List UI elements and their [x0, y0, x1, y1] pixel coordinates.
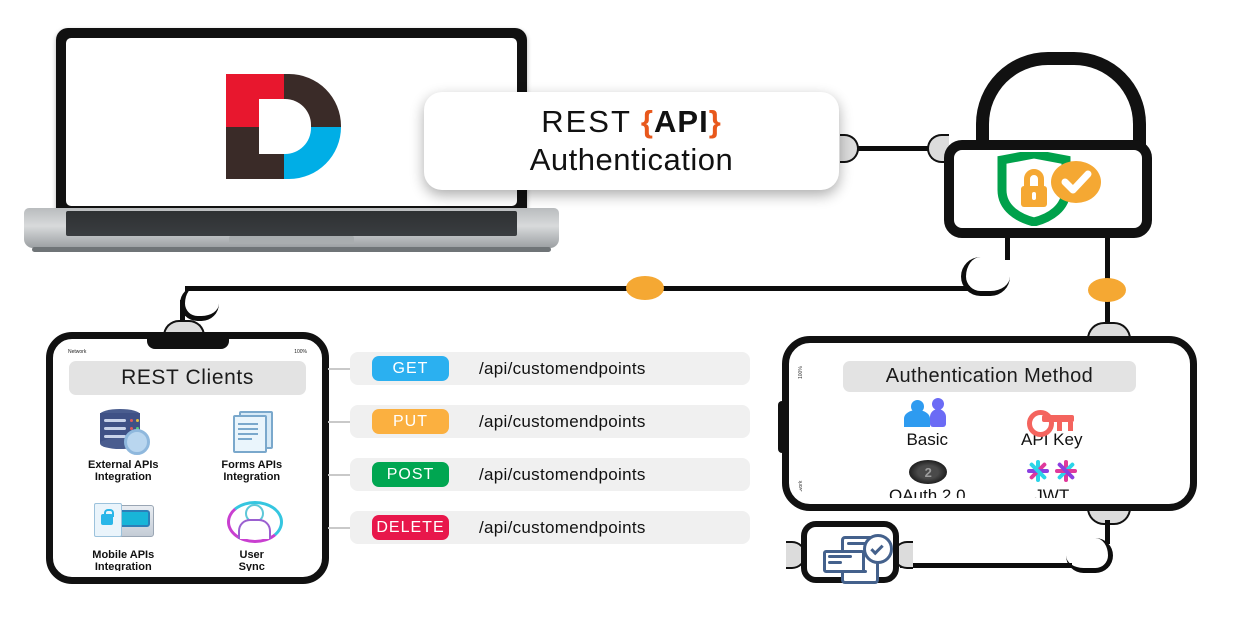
wire-lock-leftleg — [1005, 238, 1010, 260]
oauth-badge: 2 — [898, 454, 956, 488]
http-methods-list: GET /api/customendpoints PUT /api/custom… — [350, 352, 750, 564]
padlock-body — [944, 140, 1152, 238]
auth-method-grid: Basic API Key 2 OAuth 2.0 — [865, 398, 1114, 498]
form-verified-icon — [807, 526, 893, 578]
method-path: /api/customendpoints — [479, 518, 646, 538]
tablet-notch — [147, 338, 229, 349]
title-rest: REST — [541, 104, 632, 140]
laptop-base — [24, 208, 559, 248]
jwt-icon — [1023, 454, 1081, 488]
rest-clients-header: REST Clients — [69, 361, 306, 395]
auth-method-item[interactable]: 2 OAuth 2.0 — [865, 454, 990, 498]
users-icon — [898, 398, 956, 432]
tablet-status-right: 100% — [294, 349, 307, 355]
laptop-keyboard — [66, 211, 517, 236]
tablet-device: Network 100% REST Clients — [46, 332, 329, 584]
rest-client-item[interactable]: Forms APIsIntegration — [188, 407, 317, 483]
form-verified-card[interactable] — [801, 521, 899, 583]
shield-check-icon — [988, 152, 1108, 226]
auth-method-label: Basic — [906, 430, 948, 450]
rest-client-item[interactable]: Mobile APIsIntegration — [59, 497, 188, 571]
laptop-foot — [32, 247, 551, 252]
rest-client-label2: Integration — [95, 561, 152, 571]
method-row[interactable]: GET /api/customendpoints — [350, 352, 750, 385]
wire-main-bus — [185, 286, 970, 291]
method-row[interactable]: PUT /api/customendpoints — [350, 405, 750, 438]
auth-method-item[interactable]: JWT — [990, 454, 1115, 498]
phone-status-top: 100% — [798, 366, 804, 379]
method-path: /api/customendpoints — [479, 412, 646, 432]
rest-client-label2: Sync — [239, 561, 265, 571]
phone-screen: 100% Network Authentication Method Basic — [795, 349, 1184, 498]
user-sync-icon — [221, 497, 283, 547]
rest-clients-grid: External APIsIntegration Forms APIsInteg… — [59, 407, 316, 571]
security-padlock — [944, 52, 1152, 238]
tablet-screen: Network 100% REST Clients — [59, 345, 316, 571]
diagram-canvas: REST {API} Authentication Network 100% — [0, 0, 1250, 625]
tablet-status-left: Network — [68, 349, 86, 355]
title-line-2: Authentication — [530, 142, 733, 178]
key-icon — [1023, 398, 1081, 432]
phone-status-bottom: Network — [798, 481, 804, 498]
rest-client-label2: Integration — [95, 471, 152, 483]
rest-client-item[interactable]: External APIsIntegration — [59, 407, 188, 483]
auth-method-item[interactable]: API Key — [990, 398, 1115, 450]
phone-side-button[interactable] — [778, 401, 789, 453]
connector-node-center — [626, 276, 664, 300]
title-card: REST {API} Authentication — [424, 92, 839, 190]
method-badge-delete[interactable]: DELETE — [372, 515, 449, 540]
rest-client-label: Forms APIs — [221, 459, 282, 471]
method-badge-get[interactable]: GET — [372, 356, 449, 381]
method-row[interactable]: DELETE /api/customendpoints — [350, 511, 750, 544]
wire-elbow-tablet — [180, 286, 219, 321]
title-line-1: REST {API} — [541, 104, 722, 140]
method-connector-stub — [328, 527, 350, 529]
database-gear-icon — [92, 407, 154, 457]
brace-close: } — [709, 104, 722, 139]
method-connector-stub — [328, 368, 350, 370]
method-path: /api/customendpoints — [479, 465, 646, 485]
brace-open: { — [641, 104, 654, 139]
rest-client-item[interactable]: UserSync — [188, 497, 317, 571]
rest-client-label: Mobile APIs — [92, 549, 154, 561]
method-row[interactable]: POST /api/customendpoints — [350, 458, 750, 491]
wire-elbow-bottom — [1066, 538, 1113, 573]
method-connector-stub — [328, 421, 350, 423]
auth-method-header: Authentication Method — [843, 361, 1136, 392]
rest-client-label: User — [240, 549, 264, 561]
brand-d-logo — [226, 74, 341, 179]
rest-clients-title: REST Clients — [121, 366, 254, 390]
mobile-lock-icon — [92, 497, 154, 547]
connector-node-right — [1088, 278, 1126, 302]
method-badge-put[interactable]: PUT — [372, 409, 449, 434]
auth-method-title: Authentication Method — [886, 365, 1093, 388]
wire-bottom-bus — [900, 563, 1072, 568]
laptop-trackpad — [229, 236, 354, 244]
check-circle-icon — [863, 534, 893, 564]
phone-device: 100% Network Authentication Method Basic — [782, 336, 1197, 511]
documents-icon — [221, 407, 283, 457]
rest-client-label: External APIs — [88, 459, 159, 471]
rest-client-label2: Integration — [223, 471, 280, 483]
oauth-badge-text: 2 — [909, 460, 947, 484]
method-path: /api/customendpoints — [479, 359, 646, 379]
method-badge-post[interactable]: POST — [372, 462, 449, 487]
connector-nub-title-right — [840, 134, 859, 163]
method-connector-stub — [328, 474, 350, 476]
title-api: API — [654, 104, 709, 139]
auth-method-item[interactable]: Basic — [865, 398, 990, 450]
